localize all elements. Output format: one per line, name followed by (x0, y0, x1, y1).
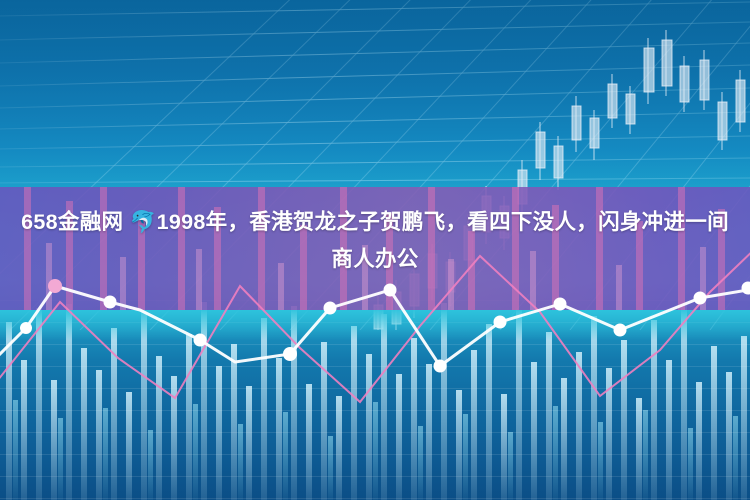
headline-text: 658金融网 🐬1998年，香港贺龙之子贺鹏飞，看四下没人，闪身冲进一间商人办公 (0, 204, 750, 278)
white-line-markers (20, 279, 750, 373)
banner-image: 658金融网 🐬1998年，香港贺龙之子贺鹏飞，看四下没人，闪身冲进一间商人办公 (0, 0, 750, 500)
